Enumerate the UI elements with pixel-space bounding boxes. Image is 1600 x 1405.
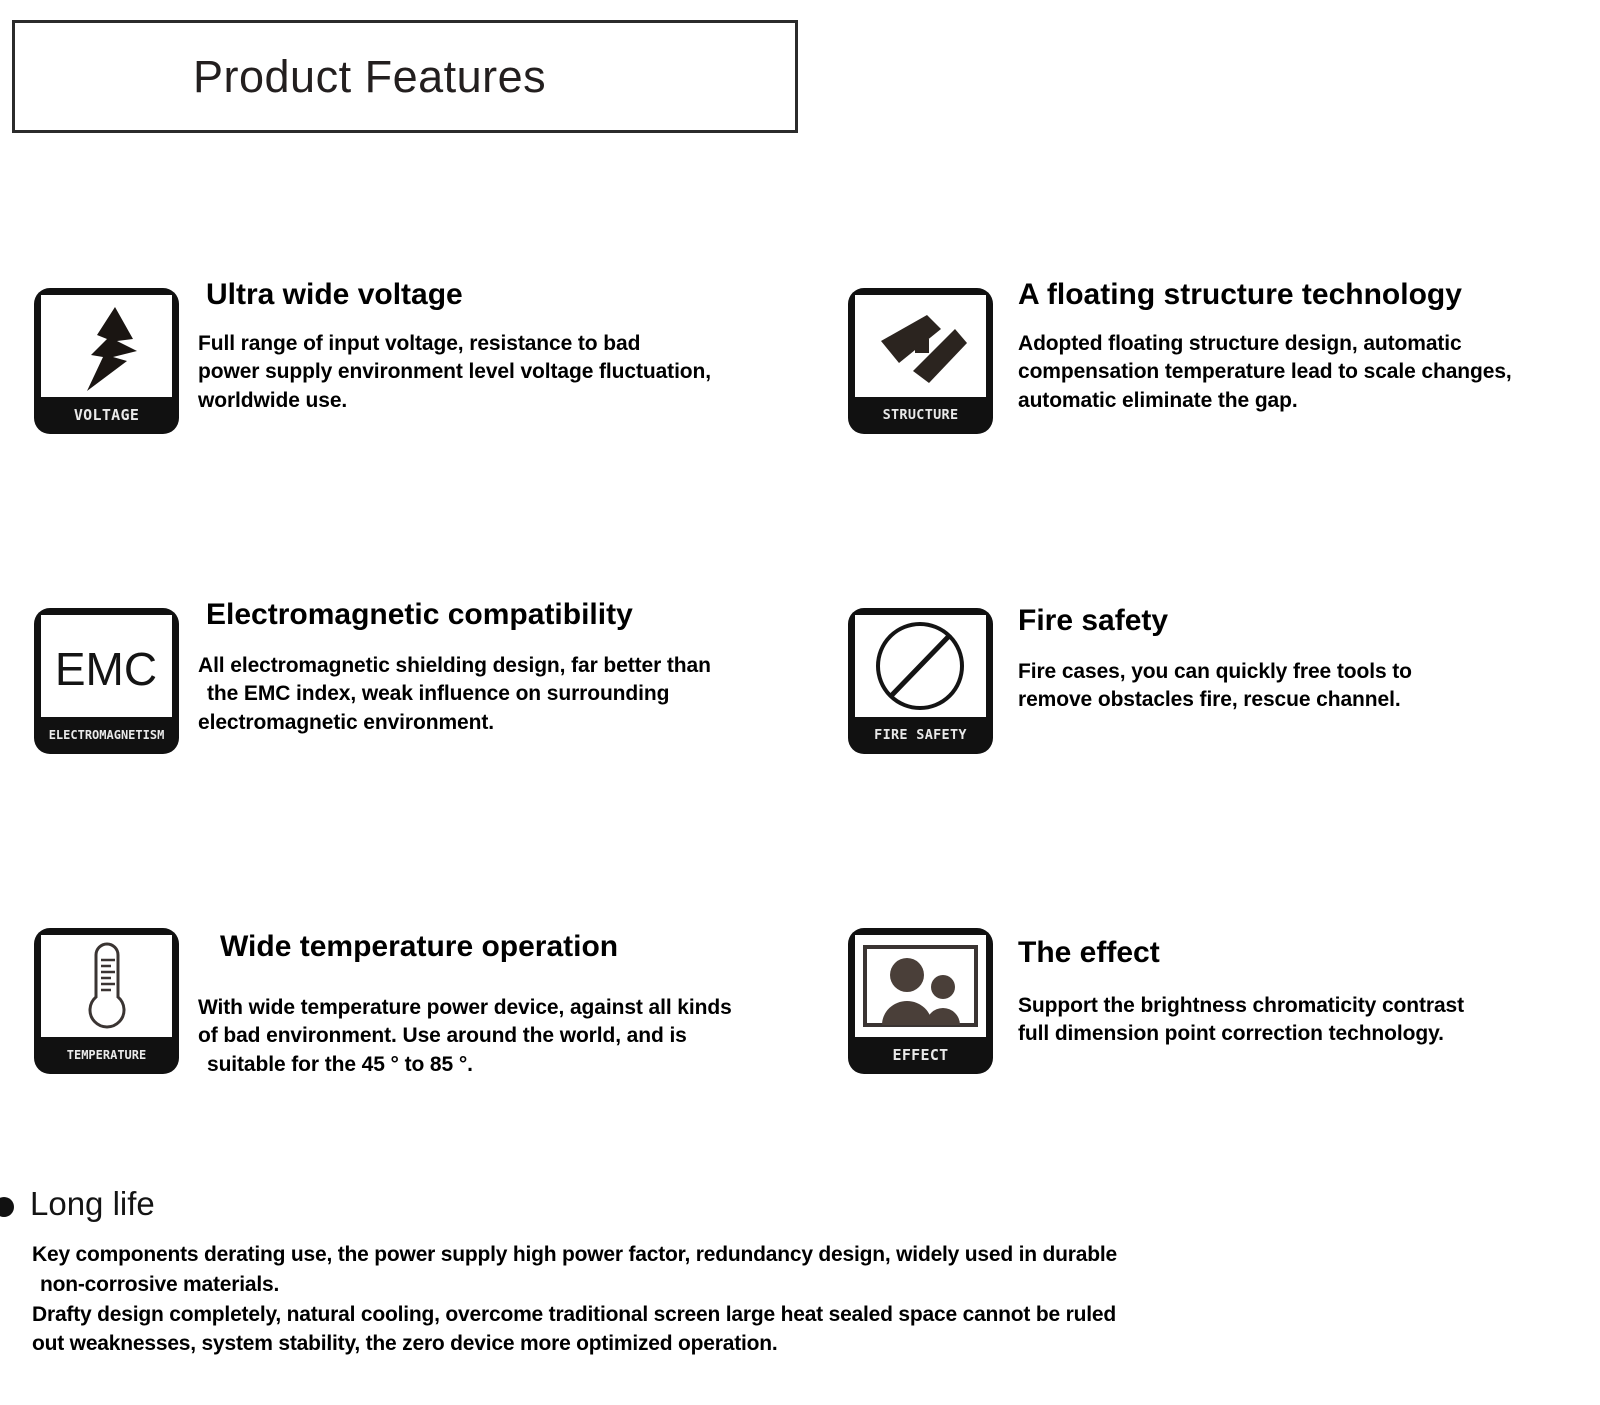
feature-body-line: of bad environment. Use around the world… xyxy=(198,1022,848,1051)
feature-body-line: automatic eliminate the gap. xyxy=(1018,387,1598,416)
emc-icon: EMC ELECTROMAGNETISM xyxy=(34,608,179,754)
feature-text: Fire safety Fire cases, you can quickly … xyxy=(1018,604,1598,715)
feature-row: TEMPERATURE Wide temperature operation W… xyxy=(0,918,1600,1238)
feature-title: Wide temperature operation xyxy=(198,930,848,964)
feature-grid: VOLTAGE Ultra wide voltage Full range of… xyxy=(0,278,1600,1238)
temperature-icon-caption: TEMPERATURE xyxy=(34,1037,179,1074)
fire-safety-icon-caption: FIRE SAFETY xyxy=(848,717,993,754)
long-life-body-line: non-corrosive materials. xyxy=(32,1270,1512,1300)
feature-body-line: full dimension point correction technolo… xyxy=(1018,1020,1598,1049)
feature-title: The effect xyxy=(1018,936,1598,970)
feature-body-line: Full range of input voltage, resistance … xyxy=(198,330,848,359)
feature-text: Electromagnetic compatibility All electr… xyxy=(198,598,848,737)
feature-body-line: All electromagnetic shielding design, fa… xyxy=(198,652,848,681)
feature-text: A floating structure technology Adopted … xyxy=(1018,278,1598,415)
feature-title: Ultra wide voltage xyxy=(198,278,848,312)
feature-text: Wide temperature operation With wide tem… xyxy=(198,930,848,1079)
long-life-body: Key components derating use, the power s… xyxy=(32,1240,1512,1359)
voltage-icon: VOLTAGE xyxy=(34,288,179,434)
feature-body: Support the brightness chromaticity cont… xyxy=(1018,992,1598,1049)
emc-icon-face: EMC xyxy=(41,615,172,717)
feature-body-line: Fire cases, you can quickly free tools t… xyxy=(1018,658,1598,687)
feature-body: Adopted floating structure design, autom… xyxy=(1018,330,1598,416)
feature-body: Fire cases, you can quickly free tools t… xyxy=(1018,658,1598,715)
feature-body-line: worldwide use. xyxy=(198,387,848,416)
effect-icon: EFFECT xyxy=(848,928,993,1074)
long-life-body-line: Key components derating use, the power s… xyxy=(32,1240,1512,1270)
feature-body-line: remove obstacles fire, rescue channel. xyxy=(1018,686,1598,715)
voltage-icon-caption: VOLTAGE xyxy=(34,397,179,434)
structure-icon-caption: STRUCTURE xyxy=(848,397,993,434)
feature-body-line: suitable for the 45 ° to 85 °. xyxy=(198,1051,848,1080)
svg-text:EMC: EMC xyxy=(55,643,157,695)
temperature-icon: TEMPERATURE xyxy=(34,928,179,1074)
feature-body: With wide temperature power device, agai… xyxy=(198,994,848,1080)
long-life-title: Long life xyxy=(30,1185,155,1223)
fire-safety-icon: FIRE SAFETY xyxy=(848,608,993,754)
feature-title: Electromagnetic compatibility xyxy=(198,598,848,632)
feature-body-line: Support the brightness chromaticity cont… xyxy=(1018,992,1598,1021)
feature-body-line: Adopted floating structure design, autom… xyxy=(1018,330,1598,359)
feature-body-line: the EMC index, weak influence on surroun… xyxy=(198,680,848,709)
feature-text: Ultra wide voltage Full range of input v… xyxy=(198,278,848,415)
voltage-icon-face xyxy=(41,295,172,397)
feature-body-line: compensation temperature lead to scale c… xyxy=(1018,358,1598,387)
effect-icon-face xyxy=(855,935,986,1037)
structure-icon-face xyxy=(855,295,986,397)
feature-body: Full range of input voltage, resistance … xyxy=(198,330,848,416)
structure-icon: STRUCTURE xyxy=(848,288,993,434)
temperature-icon-face xyxy=(41,935,172,1037)
long-life-body-line: Drafty design completely, natural coolin… xyxy=(32,1300,1512,1330)
feature-row: EMC ELECTROMAGNETISM Electromagnetic com… xyxy=(0,598,1600,918)
page-title: Product Features xyxy=(193,51,546,103)
feature-body-line: electromagnetic environment. xyxy=(198,709,848,738)
page-title-box: Product Features xyxy=(12,20,798,133)
fire-safety-icon-face xyxy=(855,615,986,717)
feature-text: The effect Support the brightness chroma… xyxy=(1018,936,1598,1049)
feature-row: VOLTAGE Ultra wide voltage Full range of… xyxy=(0,278,1600,598)
long-life-body-line: out weaknesses, system stability, the ze… xyxy=(32,1329,1512,1359)
feature-title: Fire safety xyxy=(1018,604,1598,638)
feature-title: A floating structure technology xyxy=(1018,278,1598,312)
effect-icon-caption: EFFECT xyxy=(848,1037,993,1074)
feature-body-line: With wide temperature power device, agai… xyxy=(198,994,848,1023)
feature-body: All electromagnetic shielding design, fa… xyxy=(198,652,848,738)
emc-icon-caption: ELECTROMAGNETISM xyxy=(34,717,179,754)
feature-body-line: power supply environment level voltage f… xyxy=(198,358,848,387)
